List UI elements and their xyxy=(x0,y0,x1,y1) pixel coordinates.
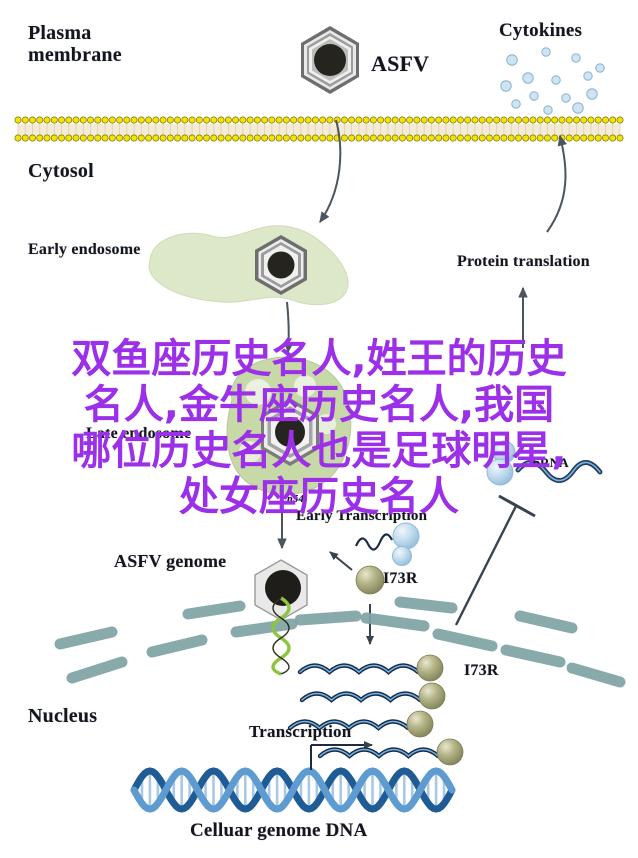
overlay-line-2: 名人,金牛座历史名人,我国 xyxy=(0,382,638,428)
overlay-line-4: 处女座历史名人 xyxy=(0,474,638,520)
label-protein-translation: Protein translation xyxy=(457,253,590,271)
nucleus-membrane xyxy=(60,602,620,682)
translation-feedback-arrow xyxy=(330,552,352,570)
label-cytokines: Cytokines xyxy=(499,20,582,41)
label-early-endosome: Early endosome xyxy=(28,241,141,259)
cytokine-cluster xyxy=(501,48,604,114)
label-asfv: ASFV xyxy=(371,52,429,77)
label-i73r-lower: I73R xyxy=(464,662,499,680)
early-endosome xyxy=(149,226,348,305)
label-i73r-upper: I73R xyxy=(383,570,418,588)
label-transcription: Transcription xyxy=(249,722,351,741)
figure-canvas: Plasma membrane Cytosol ASFV Cytokines E… xyxy=(0,0,638,858)
plasma-membrane xyxy=(15,117,623,141)
chinese-text-overlay[interactable]: 双鱼座历史名人,姓王的历史 名人,金牛座历史名人,我国 哪位历史名人也是足球明星… xyxy=(0,336,638,520)
asfv-virion-extracellular xyxy=(301,26,359,94)
label-plasma-membrane: Plasma membrane xyxy=(28,22,122,67)
overlay-line-1: 双鱼座历史名人,姓王的历史 xyxy=(0,336,638,382)
cytokine-secretion-arrow xyxy=(547,136,566,232)
label-nucleus: Nucleus xyxy=(28,705,97,727)
label-cellular-genome-dna: Celluar genome DNA xyxy=(190,820,367,841)
mrna-i73r-strands xyxy=(290,655,463,765)
label-asfv-genome: ASFV genome xyxy=(114,551,226,571)
early-transcription-product xyxy=(356,523,419,566)
label-cytosol: Cytosol xyxy=(28,160,94,182)
cellular-genome-dna xyxy=(134,771,452,809)
i73r-protein-upper xyxy=(356,566,384,594)
overlay-line-3: 哪位历史名人也是足球明星, xyxy=(0,428,638,474)
